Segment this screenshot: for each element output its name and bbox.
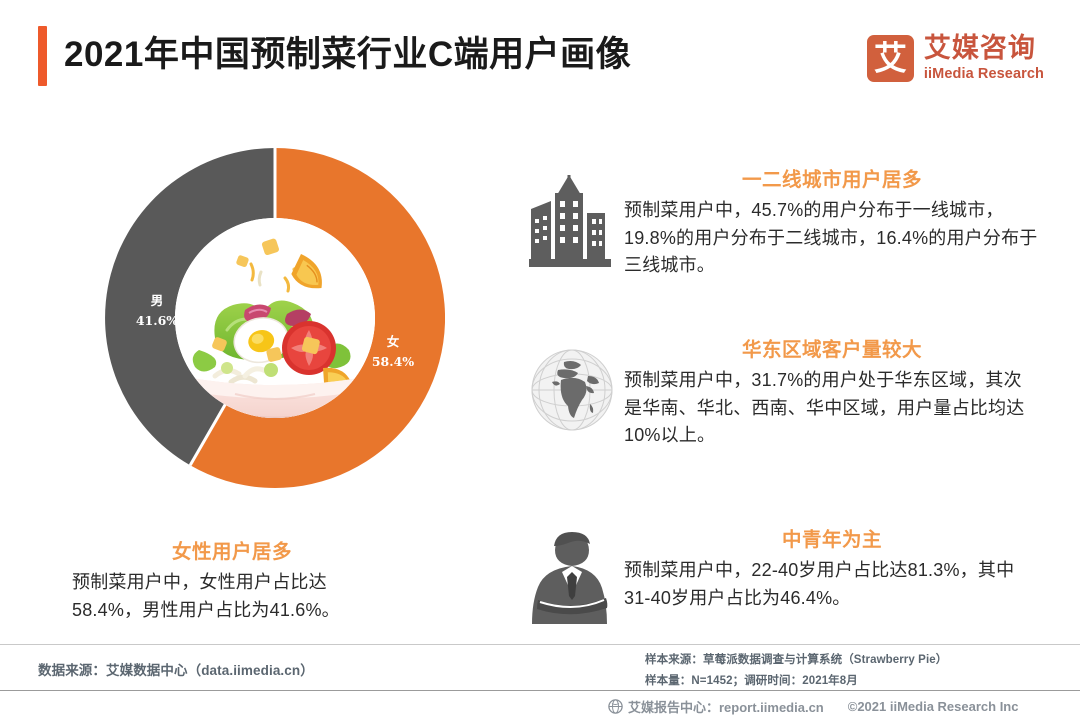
info-body-cities: 预制菜用户中，45.7%的用户分布于一线城市，19.8%的用户分布于二线城市，1… xyxy=(624,197,1040,279)
info-body-region: 预制菜用户中，31.7%的用户处于华东区域，其次是华南、华北、西南、华中区域，用… xyxy=(624,367,1040,449)
footer-report-center[interactable]: 艾媒报告中心：report.iimedia.cn xyxy=(628,697,824,716)
info-heading-age: 中青年为主 xyxy=(624,528,1040,552)
footer-sample-info: 样本来源：草莓派数据调查与计算系统（Strawberry Pie） 样本量：N=… xyxy=(645,650,947,693)
info-text-age: 中青年为主 预制菜用户中，22-40岁用户占比达81.3%，其中31-40岁用户… xyxy=(624,528,1040,612)
salad-bowl-svg xyxy=(175,218,375,418)
city-buildings-icon xyxy=(520,168,624,267)
logo-name-cn: 艾媒咨询 xyxy=(924,35,1044,62)
globe-svg xyxy=(530,348,614,432)
page-title: 2021年中国预制菜行业C端用户画像 xyxy=(64,28,631,82)
footer-copyright-text: ©2021 iiMedia Research Inc xyxy=(848,699,1019,714)
businessman-icon xyxy=(520,528,624,626)
logo-mark-glyph: 艾 xyxy=(867,42,914,75)
footer-sample-source: 样本来源：草莓派数据调查与计算系统（Strawberry Pie） xyxy=(645,650,947,671)
globe-icon xyxy=(520,338,624,432)
brand-logo: 艾 艾媒咨询 iiMedia Research xyxy=(867,27,1044,89)
info-block-region: 华东区域客户量较大 预制菜用户中，31.7%的用户处于华东区域，其次是华南、华北… xyxy=(520,338,1040,449)
logo-name-en: iiMedia Research xyxy=(924,67,1044,82)
info-text-cities: 一二线城市用户居多 预制菜用户中，45.7%的用户分布于一线城市，19.8%的用… xyxy=(624,168,1040,279)
info-heading-gender: 女性用户居多 xyxy=(72,540,392,564)
globe-mini-icon xyxy=(608,699,623,714)
footer-divider-top xyxy=(0,644,1080,645)
city-buildings-svg xyxy=(529,175,615,267)
info-block-age: 中青年为主 预制菜用户中，22-40岁用户占比达81.3%，其中31-40岁用户… xyxy=(520,528,1040,626)
info-text-gender: 女性用户居多 预制菜用户中，女性用户占比达58.4%，男性用户占比为41.6%。 xyxy=(72,540,392,624)
footer-data-source: 数据来源：艾媒数据中心（data.iimedia.cn） xyxy=(38,659,314,679)
info-heading-cities: 一二线城市用户居多 xyxy=(624,168,1040,192)
infographic-page: 2021年中国预制菜行业C端用户画像 艾 艾媒咨询 iiMedia Resear… xyxy=(0,0,1080,726)
info-heading-region: 华东区域客户量较大 xyxy=(624,338,1040,362)
info-body-age: 预制菜用户中，22-40岁用户占比达81.3%，其中31-40岁用户占比为46.… xyxy=(624,557,1040,612)
gender-donut-chart: 男 41.6% 女 58.4% xyxy=(105,148,445,488)
footer-divider-bottom xyxy=(0,690,1080,691)
info-block-gender: 女性用户居多 预制菜用户中，女性用户占比达58.4%，男性用户占比为41.6%。 xyxy=(72,540,392,624)
logo-text: 艾媒咨询 iiMedia Research xyxy=(924,35,1044,82)
info-body-gender: 预制菜用户中，女性用户占比达58.4%，男性用户占比为41.6%。 xyxy=(72,569,392,624)
info-block-cities: 一二线城市用户居多 预制菜用户中，45.7%的用户分布于一线城市，19.8%的用… xyxy=(520,168,1040,279)
page-header: 2021年中国预制菜行业C端用户画像 艾 艾媒咨询 iiMedia Resear… xyxy=(0,0,1080,110)
logo-mark-icon: 艾 xyxy=(867,35,914,82)
info-text-region: 华东区域客户量较大 预制菜用户中，31.7%的用户处于华东区域，其次是华南、华北… xyxy=(624,338,1040,449)
salad-bowl-illustration xyxy=(175,218,375,418)
title-accent-bar xyxy=(38,26,47,86)
businessman-svg xyxy=(530,530,614,626)
footer-copyright-bar: 艾媒报告中心：report.iimedia.cn ©2021 iiMedia R… xyxy=(608,697,1018,716)
